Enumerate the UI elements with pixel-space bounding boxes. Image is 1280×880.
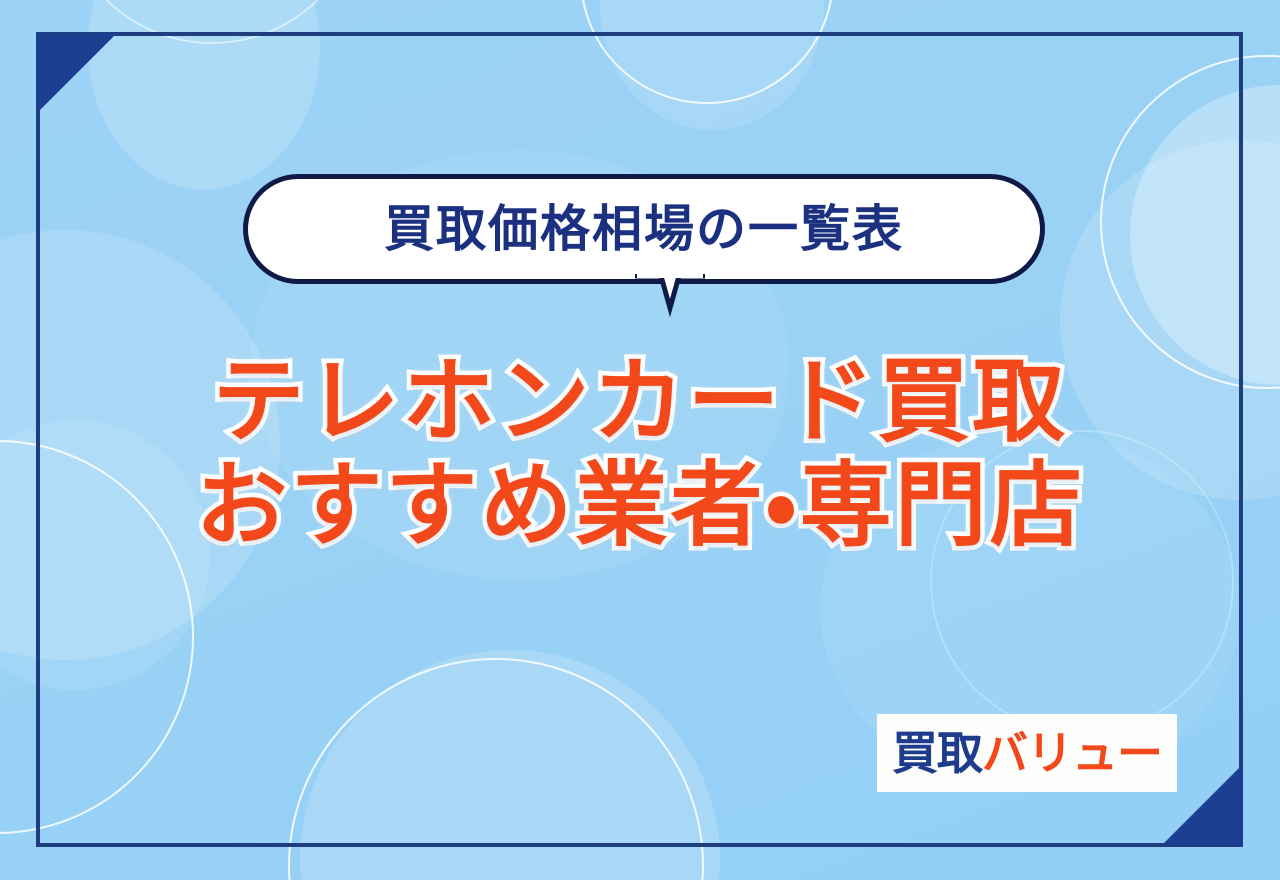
brand-logo-text: 買取バリュー — [892, 730, 1162, 776]
speech-bubble-tail-icon — [633, 274, 707, 318]
decorative-ring — [930, 430, 1234, 734]
brand-logo-orange-part: バリュー — [982, 726, 1162, 780]
decorative-ring — [580, 0, 834, 104]
badge-speech-bubble: 買取価格相場の一覧表 — [243, 174, 1045, 284]
decorative-ring — [288, 658, 704, 880]
badge-label: 買取価格相場の一覧表 — [384, 204, 904, 254]
corner-triangle-top-left-icon — [37, 33, 117, 113]
brand-logo: 買取バリュー — [877, 714, 1177, 792]
promo-banner: 買取価格相場の一覧表 テレホンカード買取 おすすめ業者・専門店 買取バリュー — [0, 0, 1280, 880]
brand-logo-navy-part: 買取 — [892, 726, 982, 780]
badge-bubble-body: 買取価格相場の一覧表 — [243, 174, 1045, 284]
